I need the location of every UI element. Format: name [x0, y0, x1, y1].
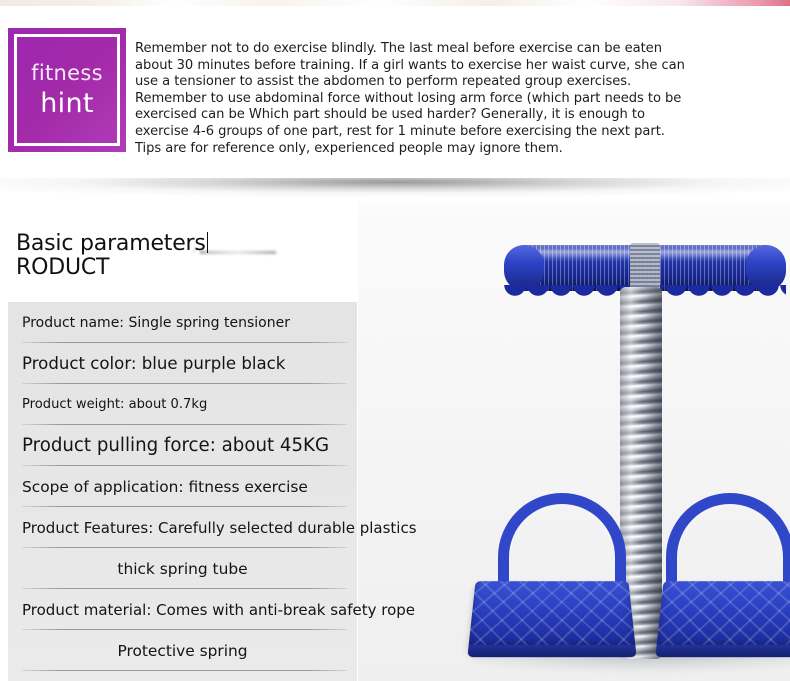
watermark-streak: [200, 251, 276, 254]
fitness-hint-badge-inner: fitness hint: [14, 34, 120, 146]
foot-pedal-right: [656, 581, 790, 650]
fitness-hint-badge-line2: hint: [40, 88, 94, 120]
basic-parameters-section: Basic parameters RODUCT rs Product name:…: [0, 203, 790, 681]
fitness-hint-badge: fitness hint: [8, 28, 126, 152]
fitness-hint-section: fitness hint Remember not to do exercise…: [0, 6, 790, 176]
spec-row: Product weight: about 0.7kg: [8, 384, 478, 425]
spec-row: thick spring tube: [8, 548, 357, 589]
spec-row-text: Product weight: about 0.7kg: [22, 397, 207, 412]
product-detail-page: fitness hint Remember not to do exercise…: [0, 0, 790, 681]
spec-list: Product name: Single spring tensioner Pr…: [8, 302, 478, 671]
page-title: Basic parameters: [16, 230, 208, 257]
spec-row-text: Scope of application: fitness exercise: [22, 478, 308, 496]
page-title-text: Basic parameters: [16, 231, 206, 256]
spec-row: Protective spring: [8, 630, 357, 671]
spec-row: Product name: Single spring tensioner: [8, 302, 478, 343]
title-text-caret: [207, 232, 208, 253]
spec-row-divider: [22, 670, 347, 671]
spec-row-text: thick spring tube: [117, 560, 247, 578]
spec-row-text: Product Features: Carefully selected dur…: [22, 519, 417, 537]
spec-row-text: Product name: Single spring tensioner: [22, 315, 290, 331]
spec-row: Scope of application: fitness exercise: [8, 466, 478, 507]
spec-row-text: Product color: blue purple black: [22, 354, 285, 373]
spec-row: Product material: Comes with anti-break …: [8, 589, 478, 630]
basic-parameters-heading-block: Basic parameters RODUCT: [16, 230, 208, 281]
foot-pedal-right-lip: [655, 645, 790, 657]
section-divider-shadow: [0, 176, 790, 204]
foot-pedal-left-lip: [467, 645, 636, 657]
fitness-hint-paragraph: Remember not to do exercise blindly. The…: [135, 41, 721, 157]
spec-row-text: Product pulling force: about 45KG: [22, 435, 329, 456]
foot-pedal-left: [468, 581, 636, 650]
page-subtitle: RODUCT: [16, 255, 208, 281]
spec-row: Product Features: Carefully selected dur…: [8, 507, 478, 548]
spec-row: Product pulling force: about 45KG: [8, 425, 478, 466]
spec-row: Product color: blue purple black: [8, 343, 478, 384]
product-photo: [460, 225, 790, 681]
spec-row-text: Product material: Comes with anti-break …: [22, 601, 415, 619]
spec-row-text: Protective spring: [117, 642, 247, 660]
fitness-hint-badge-line1: fitness: [31, 60, 103, 86]
